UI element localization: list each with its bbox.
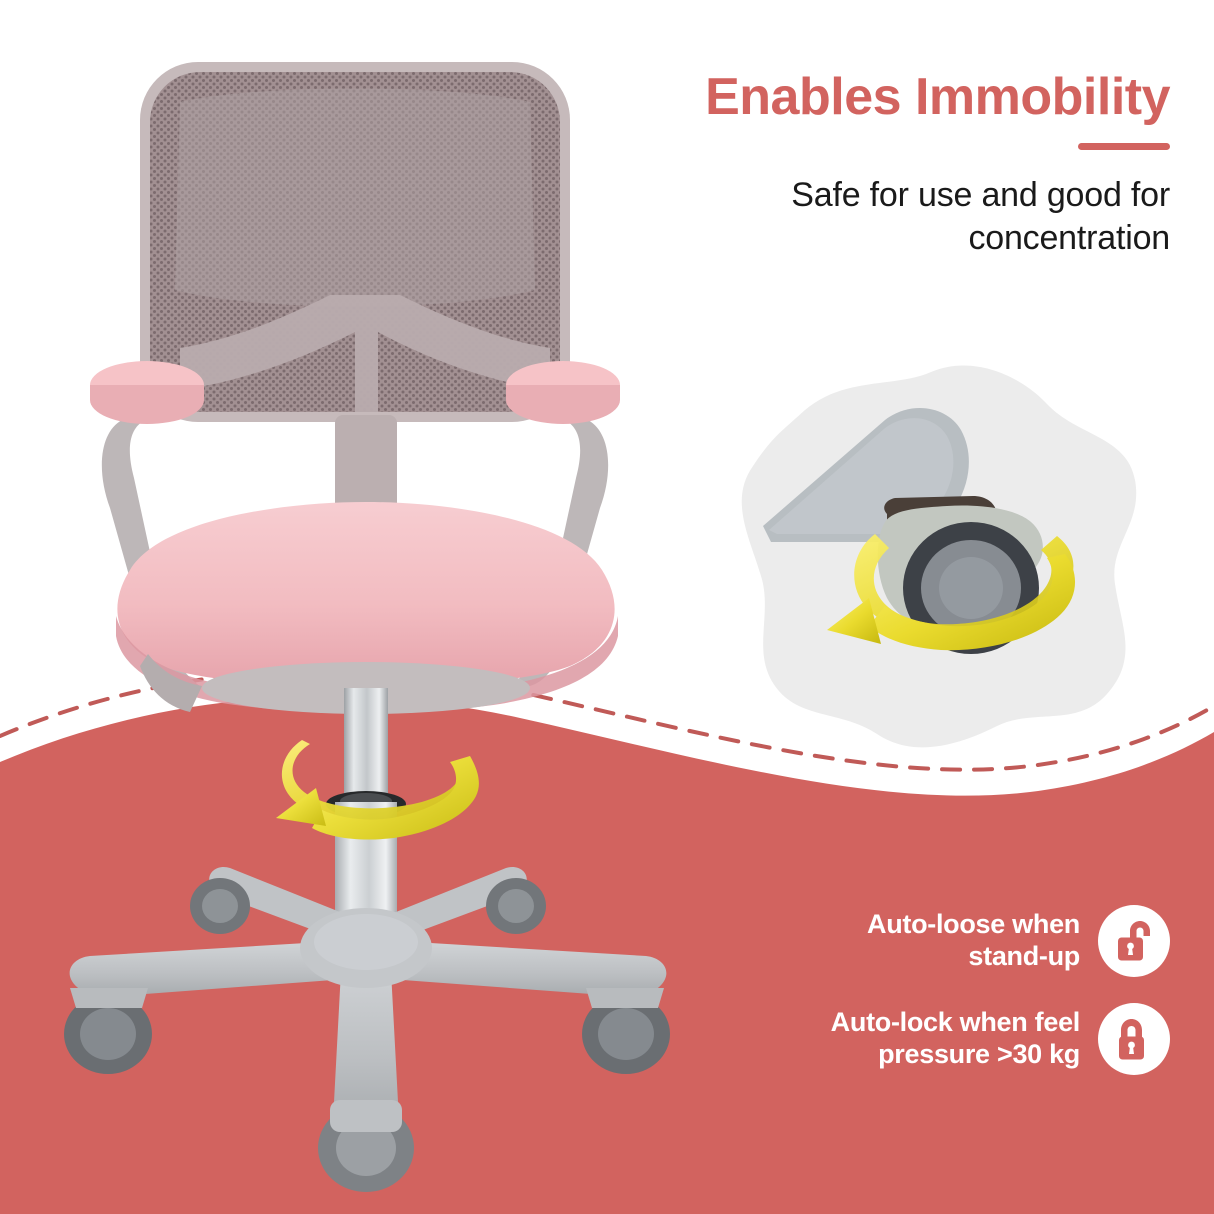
gas-cylinder-upper [344, 688, 388, 806]
feature-item-auto-loose: Auto-loose when stand-up [690, 905, 1170, 977]
feature-list: Auto-loose when stand-up Auto-lock when … [690, 905, 1170, 1101]
seat-cushion [117, 502, 614, 687]
headline-block: Enables Immobility Safe for use and good… [610, 70, 1170, 261]
unlock-icon [1113, 918, 1155, 964]
feature-label: Auto-lock when feel pressure >30 kg [831, 1007, 1080, 1071]
feature-item-auto-lock: Auto-lock when feel pressure >30 kg [690, 1003, 1170, 1075]
product-feature-graphic: Enables Immobility Safe for use and good… [0, 0, 1214, 1214]
feature-label: Auto-loose when stand-up [867, 909, 1080, 973]
caster-wheel [582, 988, 670, 1074]
caster-detail-inset [735, 358, 1145, 758]
caster-wheel [486, 878, 546, 934]
page-title: Enables Immobility [610, 70, 1170, 125]
caster-wheel [318, 1100, 414, 1192]
caster-wheel [64, 988, 152, 1074]
lock-badge [1098, 1003, 1170, 1075]
subtitle-text: Safe for use and good for concentration [610, 174, 1170, 261]
caster-wheel [190, 878, 250, 934]
backrest-upper-panel [175, 89, 535, 307]
headline-divider-icon [1078, 143, 1170, 150]
lock-icon [1113, 1016, 1155, 1062]
unlock-badge [1098, 905, 1170, 977]
